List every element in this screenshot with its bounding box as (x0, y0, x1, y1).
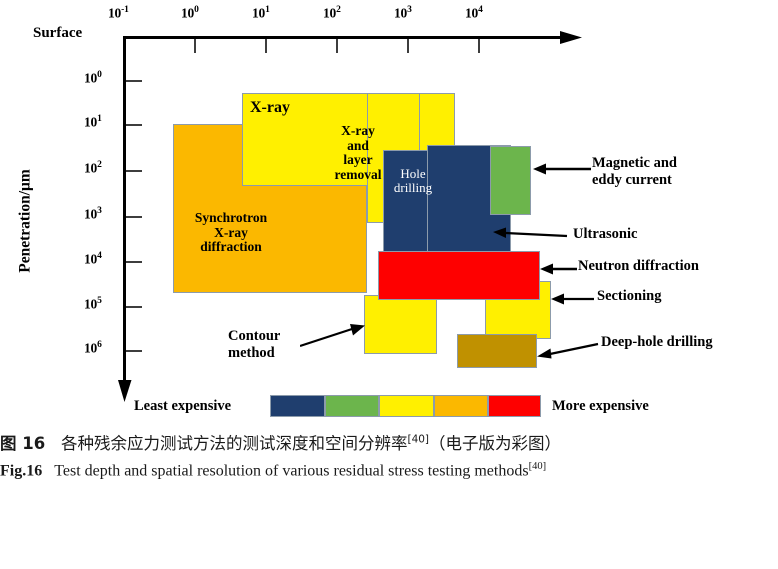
caption-chinese-text: 各种残余应力测试方法的测试深度和空间分辨率 (61, 434, 408, 453)
annotation-deep-hole-drilling: Deep-hole drilling (601, 334, 713, 351)
y-tick-exp-0: 0 (97, 70, 102, 80)
x-tick-2 (265, 39, 267, 53)
annotation-magnetic-and-eddy-current: Magnetic and eddy current (592, 155, 677, 188)
x-tick-label-3: 102 (323, 5, 341, 22)
caption-english: Fig.16 Test depth and spatial resolution… (0, 459, 778, 483)
region-contour-method[interactable] (364, 295, 437, 354)
caption-chinese-ref: [40] (407, 434, 429, 446)
y-tick-2 (126, 170, 142, 172)
x-axis-line (123, 36, 567, 39)
y-axis-title: Penetration/μm (17, 169, 35, 272)
annotation-arrow-contour-method (300, 322, 366, 348)
x-tick-3 (336, 39, 338, 53)
y-tick-1 (126, 124, 142, 126)
y-tick-label-4: 104 (84, 251, 102, 268)
x-tick-base-4: 10 (394, 6, 407, 21)
x-tick-label-4: 103 (394, 5, 412, 22)
caption-chinese-figno: 图 16 (0, 434, 45, 453)
legend-swatch-least-expensive[interactable] (270, 395, 325, 417)
legend-least-expensive-label: Least expensive (134, 398, 231, 415)
y-tick-base-6: 10 (84, 341, 97, 356)
annotation-magnetic-and-eddy-current-line1: Magnetic and (592, 155, 677, 172)
x-tick-base-0: 10 (108, 6, 121, 21)
x-tick-base-1: 10 (181, 6, 194, 21)
x-tick-exp-5: 4 (478, 5, 483, 15)
legend-more-expensive-label: More expensive (552, 398, 649, 415)
y-tick-label-1: 101 (84, 114, 102, 131)
x-tick-exp-1: 0 (194, 5, 199, 15)
y-tick-3 (126, 216, 142, 218)
x-tick-1 (194, 39, 196, 53)
annotation-sectioning-line1: Sectioning (597, 288, 661, 305)
legend-swatch-high-cost[interactable] (434, 395, 488, 417)
x-tick-exp-4: 3 (407, 5, 412, 15)
y-tick-exp-6: 6 (97, 340, 102, 350)
y-tick-base-1: 10 (84, 115, 97, 130)
annotation-arrow-sectioning (551, 292, 595, 306)
x-tick-exp-3: 2 (336, 5, 341, 15)
y-tick-4 (126, 261, 142, 263)
y-tick-base-3: 10 (84, 207, 97, 222)
x-tick-label-5: 104 (465, 5, 483, 22)
annotation-contour-method: Contour method (228, 328, 280, 361)
x-tick-exp-2: 1 (265, 5, 270, 15)
y-tick-exp-5: 5 (97, 296, 102, 306)
annotation-neutron-diffraction: Neutron diffraction (578, 258, 699, 275)
y-tick-base-5: 10 (84, 297, 97, 312)
x-tick-base-5: 10 (465, 6, 478, 21)
figure-caption: 图 16 各种残余应力测试方法的测试深度和空间分辨率[40]（电子版为彩图） F… (0, 432, 778, 569)
region-magnetic-and-eddy-current[interactable] (490, 146, 531, 215)
x-tick-label-0: 10-1 (108, 5, 129, 22)
legend-swatch-most-expensive[interactable] (488, 395, 541, 417)
annotation-ultrasonic-line1: Ultrasonic (573, 226, 637, 243)
legend-swatch-medium-cost[interactable] (379, 395, 434, 417)
y-tick-exp-2: 2 (97, 160, 102, 170)
y-tick-base-2: 10 (84, 161, 97, 176)
y-tick-base-4: 10 (84, 252, 97, 267)
legend-swatch-low-cost[interactable] (325, 395, 379, 417)
annotation-ultrasonic: Ultrasonic (573, 226, 637, 243)
x-tick-exp-0: -1 (121, 5, 129, 15)
y-tick-label-6: 106 (84, 340, 102, 357)
annotation-sectioning: Sectioning (597, 288, 661, 305)
y-axis-line (123, 36, 126, 386)
y-tick-0 (126, 80, 142, 82)
y-tick-exp-1: 1 (97, 114, 102, 124)
annotation-neutron-diffraction-line1: Neutron diffraction (578, 258, 699, 275)
annotation-deep-hole-drilling-line1: Deep-hole drilling (601, 334, 713, 351)
y-axis-surface-label: Surface (33, 25, 82, 42)
annotation-contour-method-line1: Contour (228, 328, 280, 345)
x-tick-base-2: 10 (252, 6, 265, 21)
y-tick-label-3: 103 (84, 206, 102, 223)
figure-canvas: 10-1 100 101 102 103 104 100 101 102 103… (0, 0, 778, 430)
caption-english-figno: Fig.16 (0, 463, 42, 480)
y-axis-arrowhead (116, 380, 134, 402)
y-tick-5 (126, 306, 142, 308)
annotation-arrow-deep-hole-drilling (537, 340, 599, 360)
annotation-arrow-neutron-diffraction (540, 262, 578, 276)
caption-chinese-tail: （电子版为彩图） (429, 434, 561, 453)
caption-english-text: Test depth and spatial resolution of var… (54, 463, 528, 480)
region-neutron-diffraction[interactable] (378, 251, 540, 300)
annotation-arrow-magnetic-and-eddy-current (533, 162, 593, 176)
region-deep-hole-drilling[interactable] (457, 334, 537, 368)
y-tick-exp-4: 4 (97, 251, 102, 261)
x-tick-4 (407, 39, 409, 53)
y-tick-label-2: 102 (84, 160, 102, 177)
x-axis-arrowhead (560, 29, 582, 47)
x-tick-5 (478, 39, 480, 53)
caption-chinese: 图 16 各种残余应力测试方法的测试深度和空间分辨率[40]（电子版为彩图） (0, 432, 778, 455)
annotation-arrow-ultrasonic (493, 226, 569, 240)
x-tick-base-3: 10 (323, 6, 336, 21)
caption-english-ref: [40] (529, 461, 547, 472)
y-tick-label-0: 100 (84, 70, 102, 87)
y-tick-base-0: 10 (84, 71, 97, 86)
annotation-magnetic-and-eddy-current-line2: eddy current (592, 172, 677, 189)
y-tick-label-5: 105 (84, 296, 102, 313)
annotation-contour-method-line2: method (228, 345, 280, 362)
y-tick-exp-3: 3 (97, 206, 102, 216)
y-tick-6 (126, 350, 142, 352)
x-tick-label-1: 100 (181, 5, 199, 22)
x-tick-label-2: 101 (252, 5, 270, 22)
